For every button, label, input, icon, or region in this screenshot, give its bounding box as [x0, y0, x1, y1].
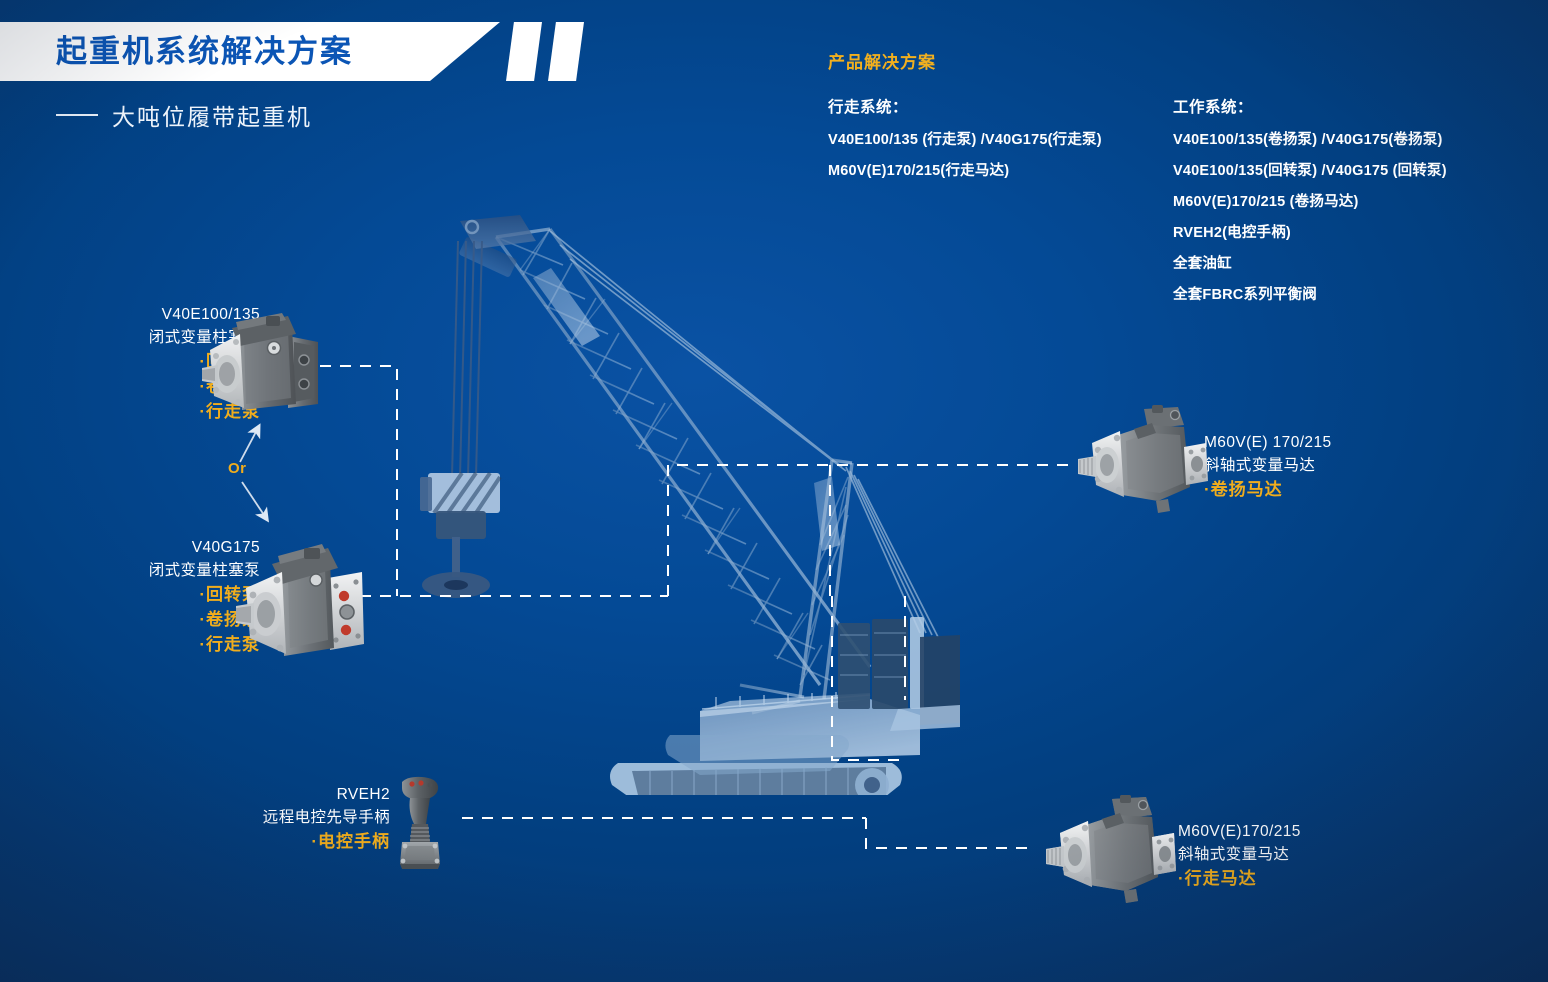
bent-axis-motor-photo — [1072, 405, 1208, 517]
work-system-line: V40E100/135(卷扬泵) /V40G175(卷扬泵) — [1173, 128, 1528, 149]
product-label-m60-hoist: M60V(E) 170/215 斜轴式变量马达 ·卷扬马达 — [1204, 431, 1332, 502]
joystick-photo — [388, 776, 450, 870]
work-system-column: 工作系统： V40E100/135(卷扬泵) /V40G175(卷扬泵) V40… — [1173, 95, 1528, 314]
or-branch-arrows — [218, 418, 308, 528]
work-system-line: RVEH2(电控手柄) — [1173, 221, 1528, 242]
poster-canvas: 起重机系统解决方案 大吨位履带起重机 产品解决方案 行走系统： V40E100/… — [0, 0, 1548, 982]
product-model: M60V(E)170/215 — [1178, 820, 1301, 843]
product-bullet: ·电控手柄 — [250, 829, 390, 854]
work-system-heading: 工作系统： — [1173, 95, 1528, 117]
solutions-panel: 产品解决方案 行走系统： V40E100/135 (行走泵) /V40G175(… — [828, 48, 1528, 314]
subtitle-dash — [56, 114, 98, 116]
work-system-line: M60V(E)170/215 (卷扬马达) — [1173, 190, 1528, 211]
bent-axis-motor-photo — [1040, 795, 1176, 907]
product-type: 远程电控先导手柄 — [250, 806, 390, 829]
work-system-line: 全套FBRC系列平衡阀 — [1173, 283, 1528, 304]
axial-piston-pump-photo — [196, 312, 326, 420]
product-model: M60V(E) 170/215 — [1204, 431, 1332, 454]
solutions-heading: 产品解决方案 — [828, 48, 1528, 73]
product-type: 斜轴式变量马达 — [1178, 843, 1301, 866]
travel-system-heading: 行走系统： — [828, 95, 1173, 117]
page-title: 起重机系统解决方案 — [56, 28, 353, 76]
subtitle-text: 大吨位履带起重机 — [112, 98, 312, 132]
product-label-m60-travel: M60V(E)170/215 斜轴式变量马达 ·行走马达 — [1178, 820, 1301, 891]
banner-stripe-2 — [548, 22, 584, 81]
product-bullet: ·行走马达 — [1178, 866, 1301, 891]
product-type: 斜轴式变量马达 — [1204, 454, 1332, 477]
axial-piston-pump-photo — [228, 538, 376, 662]
work-system-line: 全套油缸 — [1173, 252, 1528, 273]
page-subtitle: 大吨位履带起重机 — [56, 98, 312, 132]
travel-system-line: M60V(E)170/215(行走马达) — [828, 159, 1173, 180]
work-system-line: V40E100/135(回转泵) /V40G175 (回转泵) — [1173, 159, 1528, 180]
banner-stripe-1 — [506, 22, 542, 81]
product-label-rveh2: RVEH2 远程电控先导手柄 ·电控手柄 — [250, 783, 390, 854]
travel-system-line: V40E100/135 (行走泵) /V40G175(行走泵) — [828, 128, 1173, 149]
product-bullet: ·卷扬马达 — [1204, 477, 1332, 502]
travel-system-column: 行走系统： V40E100/135 (行走泵) /V40G175(行走泵) M6… — [828, 95, 1173, 314]
product-model: RVEH2 — [250, 783, 390, 806]
